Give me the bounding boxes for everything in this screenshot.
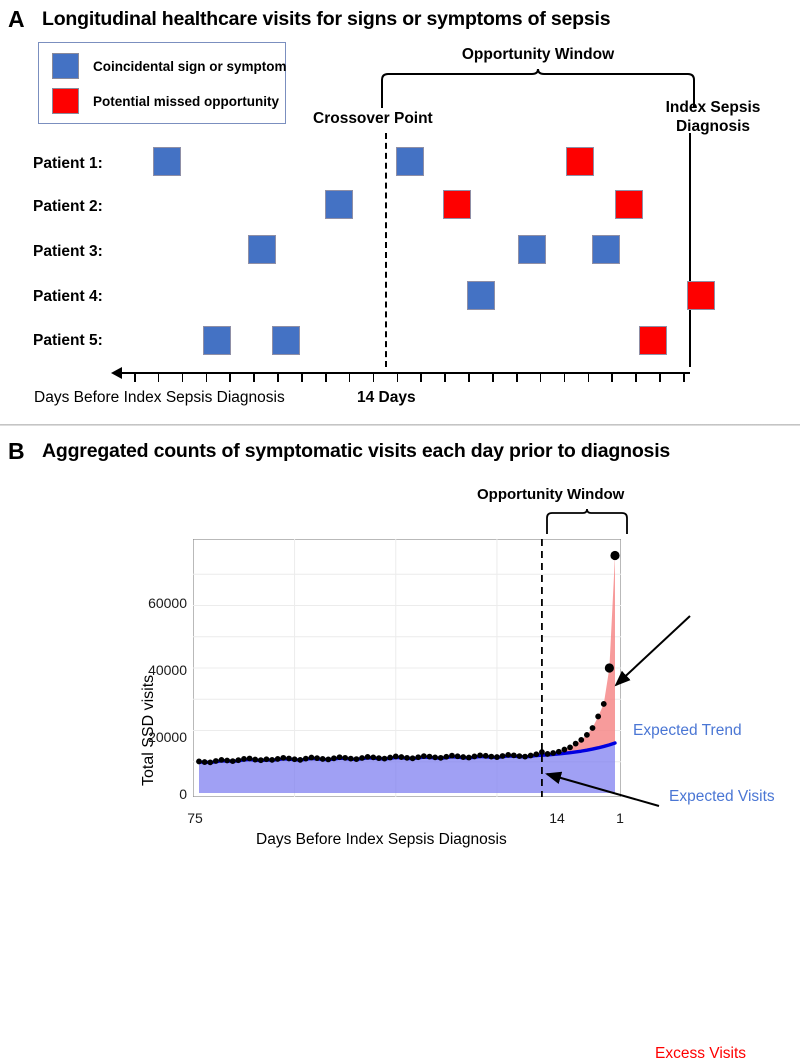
- time-axis-tick: [659, 373, 661, 382]
- time-axis-tick: [564, 373, 566, 382]
- panel-a-letter: A: [8, 8, 25, 31]
- blue-square-icon: [52, 53, 79, 79]
- visit-marker[interactable]: [615, 190, 643, 219]
- patient-row-label-3: Patient 3:: [33, 243, 103, 261]
- time-axis-tick: [468, 373, 470, 382]
- panel-a-title: Longitudinal healthcare visits for signs…: [42, 10, 610, 30]
- y-tick-label-40000: 40000: [139, 662, 187, 678]
- time-axis-tick: [516, 373, 518, 382]
- y-tick-label-0: 0: [139, 786, 187, 802]
- time-axis-tick: [588, 373, 590, 382]
- visit-marker[interactable]: [396, 147, 424, 176]
- visit-marker[interactable]: [467, 281, 495, 310]
- time-axis-tick: [420, 373, 422, 382]
- panel-b: B Aggregated counts of symptomatic visit…: [0, 426, 800, 851]
- excess-visits-annotation: Excess Visits: [655, 1045, 746, 1063]
- expected-visits-annotation: Expected Visits: [669, 788, 775, 806]
- crossover-days-label: 14 Days: [357, 389, 416, 407]
- visit-marker[interactable]: [518, 235, 546, 264]
- time-axis-tick: [444, 373, 446, 382]
- expected-trend-annotation: Expected Trend: [633, 722, 742, 740]
- time-axis-line: [122, 372, 690, 374]
- index-diagnosis-axis-line: [689, 133, 691, 367]
- x-tick-label-14: 14: [537, 810, 577, 826]
- crossover-dashed-line: [385, 133, 387, 367]
- time-axis-tick: [397, 373, 399, 382]
- opportunity-window-bracket-b: [545, 508, 629, 536]
- y-tick-label-20000: 20000: [139, 729, 187, 745]
- patient-row-label-2: Patient 2:: [33, 198, 103, 216]
- time-axis-tick: [134, 373, 136, 382]
- x-tick-label-1: 1: [600, 810, 640, 826]
- index-diagnosis-label-line2: Diagnosis: [638, 118, 788, 136]
- visit-marker[interactable]: [153, 147, 181, 176]
- opportunity-window-label-b: Opportunity Window: [477, 486, 624, 503]
- visit-marker[interactable]: [443, 190, 471, 219]
- patient-row-label-5: Patient 5:: [33, 332, 103, 350]
- time-axis-arrow-icon: [111, 367, 122, 379]
- time-axis-tick: [301, 373, 303, 382]
- time-axis-tick: [277, 373, 279, 382]
- visit-marker[interactable]: [687, 281, 715, 310]
- visit-marker[interactable]: [248, 235, 276, 264]
- visit-marker[interactable]: [203, 326, 231, 355]
- time-axis-tick: [325, 373, 327, 382]
- time-axis-tick: [206, 373, 208, 382]
- x-tick-label-75: 75: [175, 810, 215, 826]
- time-axis-tick: [635, 373, 637, 382]
- crossover-point-label: Crossover Point: [313, 110, 433, 128]
- x-axis-title: Days Before Index Sepsis Diagnosis: [256, 831, 507, 849]
- panel-a: A Longitudinal healthcare visits for sig…: [0, 0, 800, 424]
- time-axis-tick: [229, 373, 231, 382]
- excess-visits-arrow-icon: [590, 606, 700, 696]
- legend-item-coincidental: Coincidental sign or symptom: [52, 52, 287, 80]
- time-axis-tick: [611, 373, 613, 382]
- visit-marker[interactable]: [639, 326, 667, 355]
- time-axis-tick: [349, 373, 351, 382]
- patient-row-label-4: Patient 4:: [33, 288, 103, 306]
- opportunity-window-label-a: Opportunity Window: [388, 46, 688, 64]
- panel-a-axis-label: Days Before Index Sepsis Diagnosis: [34, 389, 285, 407]
- visit-marker[interactable]: [272, 326, 300, 355]
- panel-b-letter: B: [8, 440, 25, 463]
- visit-marker[interactable]: [566, 147, 594, 176]
- legend-label-coincidental: Coincidental sign or symptom: [93, 59, 287, 74]
- legend-item-missed: Potential missed opportunity: [52, 87, 279, 115]
- legend-label-missed: Potential missed opportunity: [93, 94, 279, 109]
- panel-a-legend: Coincidental sign or symptom Potential m…: [38, 42, 286, 124]
- visit-marker[interactable]: [325, 190, 353, 219]
- time-axis-tick: [540, 373, 542, 382]
- red-square-icon: [52, 88, 79, 114]
- y-tick-label-60000: 60000: [139, 595, 187, 611]
- time-axis-tick: [373, 373, 375, 382]
- time-axis-tick: [253, 373, 255, 382]
- time-axis-tick: [158, 373, 160, 382]
- panel-b-title: Aggregated counts of symptomatic visits …: [42, 442, 670, 462]
- visit-marker[interactable]: [592, 235, 620, 264]
- index-diagnosis-label-line1: Index Sepsis: [638, 99, 788, 117]
- time-axis-tick: [182, 373, 184, 382]
- time-axis-tick: [683, 373, 685, 382]
- expected-visits-arrow-icon: [535, 766, 665, 812]
- patient-row-label-1: Patient 1:: [33, 155, 103, 173]
- time-axis-tick: [492, 373, 494, 382]
- chart-plot-area: [193, 539, 621, 797]
